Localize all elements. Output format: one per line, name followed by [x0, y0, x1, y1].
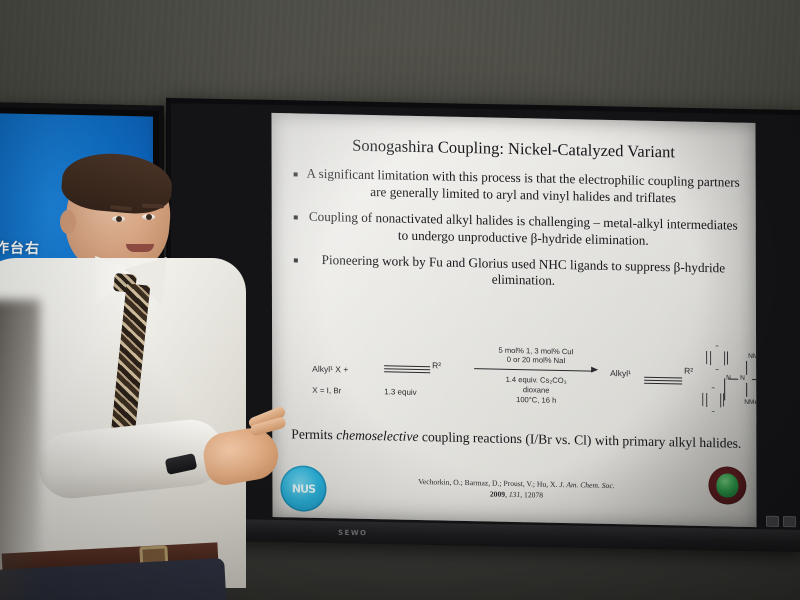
scheme-partner-equiv: 1.3 equiv — [384, 387, 416, 397]
bullet-item: Coupling of nonactivated alkyl halides i… — [294, 208, 742, 251]
substituent-label-bottom: NMe₂ — [744, 399, 756, 406]
alkyne-triple-bond-icon — [384, 363, 430, 375]
benzene-ring-icon — [706, 345, 728, 370]
catalyst-structure: N N Cl NMe₂ NMe₂ 1 — [696, 342, 756, 436]
bond-line — [746, 361, 747, 375]
presenter-eye — [142, 214, 155, 220]
conclusion-prefix: Permits — [291, 426, 336, 442]
benzene-ring-icon — [702, 387, 724, 412]
scheme-product-label: R² — [684, 366, 693, 376]
slide-citation: Vechorkin, O.; Barmaz, D.; Proust, V.; H… — [290, 473, 742, 505]
bond-line — [752, 379, 756, 380]
foreground-blur — [0, 300, 40, 600]
slide-bullet-list: A significant limitation with this proce… — [294, 165, 742, 303]
slide-conclusion: Permits chemoselective coupling reaction… — [290, 425, 742, 452]
bullet-item: Pioneering work by Fu and Glorius used N… — [294, 251, 742, 294]
institution-seal-right-icon — [708, 466, 746, 505]
bullet-square-icon — [294, 215, 298, 219]
bullet-text: A significant limitation with this proce… — [305, 166, 742, 209]
citation-authors: Vechorkin, O.; Barmaz, D.; Proust, V.; H… — [418, 477, 557, 489]
citation-year: 2009 — [490, 490, 505, 499]
display-button-1[interactable] — [766, 516, 779, 527]
scheme-substrate: Alkyl¹ X + — [312, 364, 348, 375]
scheme-partner-label: R² — [432, 360, 441, 370]
display-button-2[interactable] — [783, 516, 796, 527]
presenter-brow — [142, 204, 164, 209]
reaction-arrow-group: 5 mol% 1, 3 mol% CuI 0 or 20 mol% NaI 1.… — [470, 345, 602, 406]
presentation-slide: Sonogashira Coupling: Nickel-Catalyzed V… — [271, 113, 756, 527]
presenter-fingers — [248, 412, 290, 436]
atom-label-Ni: N — [740, 375, 745, 382]
display-brand-label: SEWO — [338, 529, 368, 538]
bullet-square-icon — [294, 172, 298, 176]
slide-title: Sonogashira Coupling: Nickel-Catalyzed V… — [272, 135, 756, 163]
bullet-text: Coupling of nonactivated alkyl halides i… — [305, 208, 742, 251]
presenter — [0, 180, 290, 600]
atom-label-N: N — [726, 374, 731, 381]
citation-volume: 131 — [509, 490, 520, 499]
conclusion-emphasis: chemoselective — [336, 427, 418, 444]
citation-page: 12078 — [524, 491, 543, 500]
photo-scene: 作台右 本教 SEWO Sonogashira Coupling: Nickel… — [0, 0, 800, 600]
substituent-label-top: NMe₂ — [748, 353, 756, 360]
display-control-buttons[interactable] — [766, 516, 796, 528]
presenter-mouth — [126, 244, 154, 252]
product-triple-bond-icon — [644, 375, 682, 387]
bond-line — [724, 378, 725, 400]
reaction-scheme: Alkyl¹ X + X = I, Br R² 1.3 equiv 5 mol%… — [292, 341, 744, 428]
scheme-substrate-note: X = I, Br — [312, 386, 341, 396]
bullet-square-icon — [294, 258, 298, 262]
condition-below-3: 100°C, 16 h — [470, 394, 602, 407]
bond-line — [746, 383, 747, 397]
bullet-item: A significant limitation with this proce… — [294, 165, 742, 208]
scheme-product: Alkyl¹ — [610, 368, 631, 378]
presenter-eye — [112, 216, 125, 222]
bullet-text: Pioneering work by Fu and Glorius used N… — [305, 251, 742, 294]
conclusion-suffix: coupling reactions (I/Br vs. Cl) with pr… — [418, 429, 741, 451]
citation-journal: J. Am. Chem. Soc. — [559, 480, 614, 490]
presenter-ear — [60, 210, 76, 234]
